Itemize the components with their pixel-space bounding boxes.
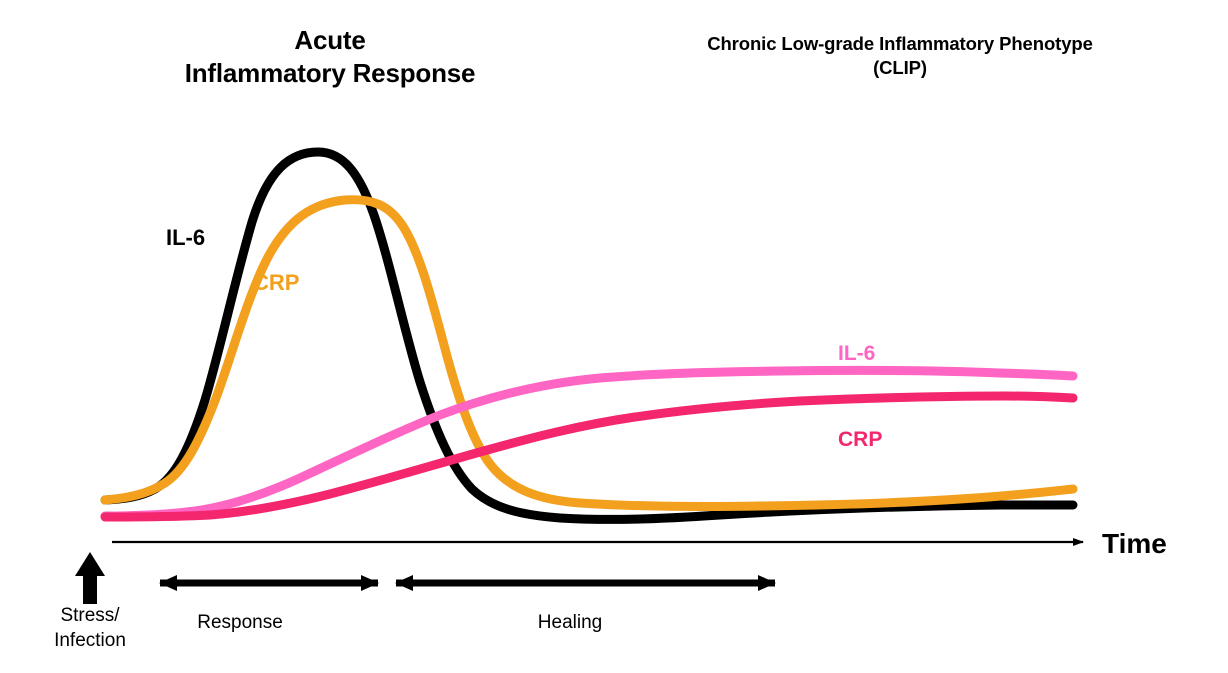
annotation-response: Response bbox=[150, 612, 330, 634]
curve-il6-acute bbox=[105, 152, 1073, 519]
inflammation-figure: Acute Inflammatory Response Chronic Low-… bbox=[0, 0, 1228, 673]
curve-label-crp-acute: CRP bbox=[253, 270, 299, 296]
curve-label-crp-clip: CRP bbox=[838, 428, 882, 452]
axis-label-time: Time bbox=[1102, 528, 1167, 560]
curve-label-il6-acute: IL-6 bbox=[166, 225, 205, 251]
curve-crp-acute bbox=[105, 200, 1073, 507]
annotation-healing: Healing bbox=[480, 612, 660, 634]
annotation-stress-infection: Stress/ Infection bbox=[30, 604, 150, 653]
stress-infection-arrow bbox=[75, 552, 105, 604]
curves-and-axes bbox=[0, 0, 1228, 673]
curve-label-il6-clip: IL-6 bbox=[838, 342, 875, 366]
curve-il6-clip bbox=[105, 370, 1073, 516]
